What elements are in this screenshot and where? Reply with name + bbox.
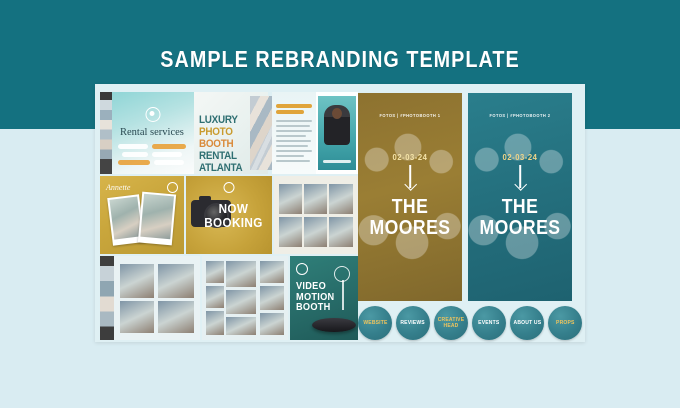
brand-logo-icon	[224, 182, 235, 193]
lux-line2a: BOOTH	[199, 138, 233, 150]
tile-photo-strip-2[interactable]	[100, 256, 114, 340]
highlight-label: REVIEWS	[401, 320, 425, 326]
now-line1: NOW	[204, 202, 262, 216]
lux-line1a: LUXURY	[199, 114, 238, 126]
story-gold-name-line1: THE	[364, 197, 456, 218]
story-gold-header: FOTOS | #PHOTOBOOTH 1	[380, 113, 441, 118]
story-panel-gold[interactable]: FOTOS | #PHOTOBOOTH 1 02-03-24 THE MOORE…	[358, 93, 462, 301]
highlight-button-reviews[interactable]: REVIEWS	[396, 306, 430, 340]
story-teal-header: FOTOS | #PHOTOBOOTH 2	[490, 113, 551, 118]
tile-video-motion-booth[interactable]: VIDEO MOTION BOOTH	[290, 256, 358, 340]
brand-logo-icon	[296, 263, 308, 275]
highlight-button-events[interactable]: EVENTS	[472, 306, 506, 340]
story-teal-name-line1: THE	[474, 197, 566, 218]
tile-video-motion-booth-text: VIDEO MOTION BOOTH	[296, 282, 334, 314]
lux-line2b: RENTAL	[199, 150, 237, 162]
tile-now-booking-text: NOW BOOKING	[204, 202, 262, 230]
highlight-label: EVENTS	[478, 320, 499, 326]
highlight-label: WEBSITE	[363, 320, 387, 326]
highlight-button-props[interactable]: PROPS	[548, 306, 582, 340]
lux-line1b: PHOTO	[199, 126, 233, 138]
brand-logo-icon	[146, 107, 161, 122]
story-gold-name-line2: MOORES	[364, 218, 456, 239]
tile-event-collage-1[interactable]	[114, 256, 200, 340]
vmb-line1: VIDEO	[296, 282, 334, 293]
screenshot-stage: SAMPLE REBRANDING TEMPLATE Rental servic…	[0, 0, 680, 408]
page-title: SAMPLE REBRANDING TEMPLATE	[48, 46, 633, 73]
bio-portrait-panel	[318, 96, 356, 170]
brand-logo-icon	[167, 182, 178, 193]
lux-line3: ATLANTA	[199, 162, 242, 174]
tile-gold-polaroids[interactable]: Annette	[100, 176, 184, 254]
tile-event-collage-2[interactable]	[202, 256, 288, 340]
highlight-button-creative-head[interactable]: CREATIVE HEAD	[434, 306, 468, 340]
story-teal-date: 02-03-24	[473, 152, 567, 162]
bio-text-column	[272, 92, 316, 174]
script-flourish-icon: Annette	[106, 183, 130, 192]
vmb-line3: BOOTH	[296, 303, 334, 314]
collage-grid: Rental services LUXURY PHOTO BOOTH RENTA…	[100, 92, 358, 342]
tile-photo-grid[interactable]	[274, 176, 358, 254]
highlight-label: PROPS	[556, 320, 575, 326]
story-gold-date: 02-03-24	[363, 152, 457, 162]
story-teal-name-line2: MOORES	[474, 218, 566, 239]
story-gold-name: THE MOORES	[364, 197, 456, 239]
now-line2: BOOKING	[204, 216, 262, 230]
tile-owner-bio[interactable]	[272, 92, 358, 174]
arrow-down-icon	[409, 165, 411, 188]
tile-rental-services-caption: Rental services	[120, 127, 188, 138]
avatar	[324, 105, 350, 145]
story-teal-name: THE MOORES	[474, 197, 566, 239]
highlight-label: CREATIVE HEAD	[436, 317, 467, 329]
highlight-label: ABOUT US	[513, 320, 541, 326]
tile-rental-services[interactable]: Rental services	[112, 92, 194, 174]
highlight-button-about-us[interactable]: ABOUT US	[510, 306, 544, 340]
highlight-button-website[interactable]: WEBSITE	[358, 306, 392, 340]
ring-light-stand-icon	[342, 280, 344, 310]
highlight-circles: WEBSITE REVIEWS CREATIVE HEAD EVENTS ABO…	[358, 306, 580, 342]
story-panel-teal[interactable]: FOTOS | #PHOTOBOOTH 2 02-03-24 THE MOORE…	[468, 93, 572, 301]
tile-photo-strip[interactable]	[100, 92, 112, 174]
tile-now-booking[interactable]: NOW BOOKING	[186, 176, 272, 254]
arrow-down-icon	[519, 165, 521, 188]
booth-platform-icon	[312, 318, 356, 332]
